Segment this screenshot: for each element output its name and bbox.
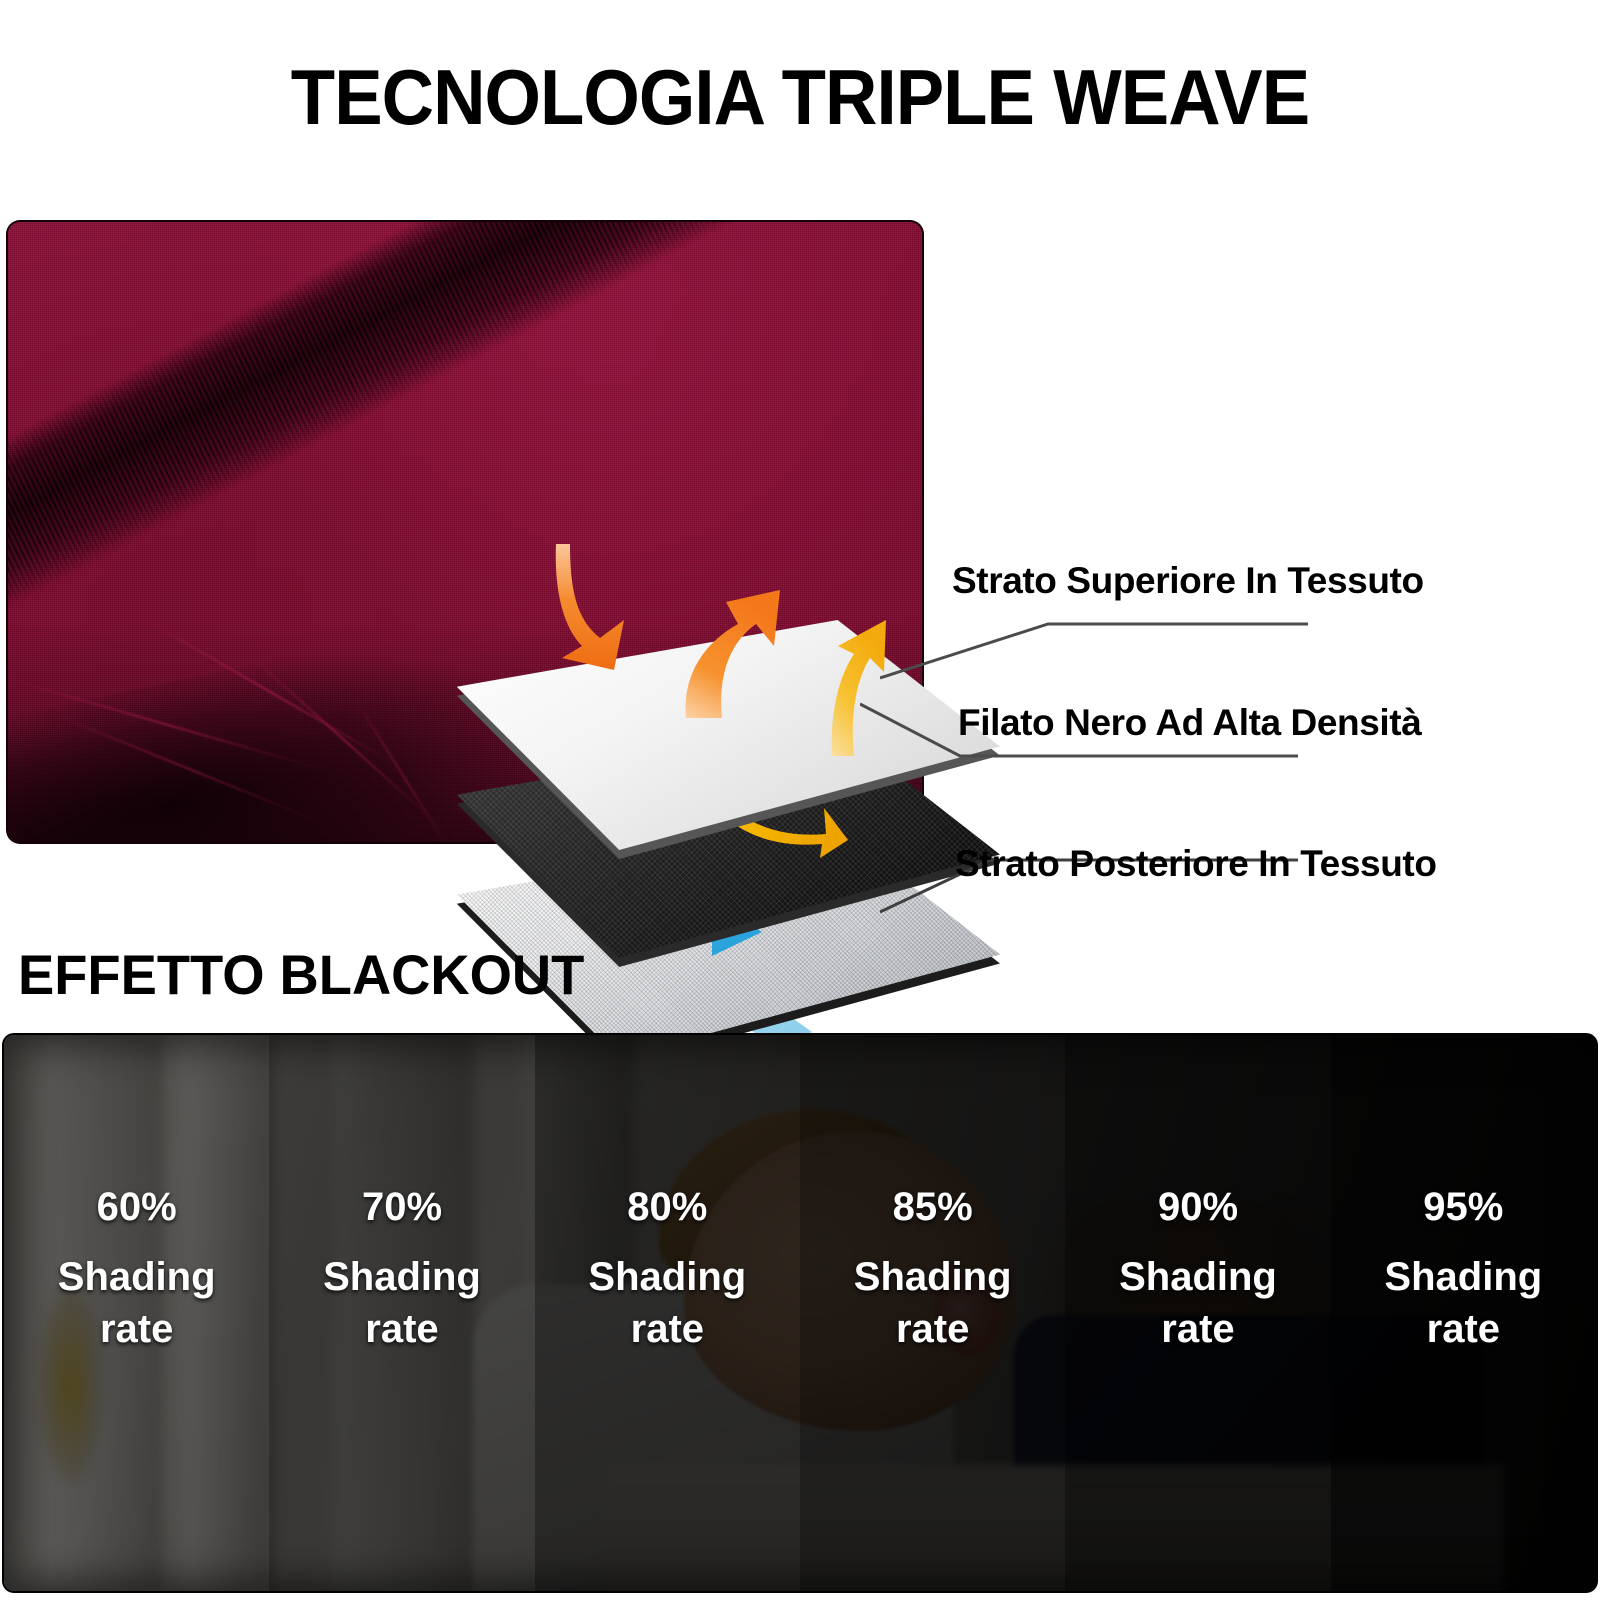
shading-panel-90: 90%Shadingrate: [1065, 1035, 1330, 1591]
blackout-section-heading: EFFETTO BLACKOUT: [18, 942, 584, 1007]
blackout-comparison-strip: 60%Shadingrate70%Shadingrate80%Shadingra…: [4, 1035, 1596, 1591]
shading-panel-70: 70%Shadingrate: [269, 1035, 534, 1591]
shading-panel-95: 95%Shadingrate: [1331, 1035, 1596, 1591]
shading-label-line1: Shading: [58, 1257, 216, 1297]
shading-percent-value: 70%: [362, 1187, 442, 1227]
shading-label-line2: rate: [1427, 1309, 1500, 1349]
page-title: TECNOLOGIA TRIPLE WEAVE: [56, 52, 1544, 143]
shading-panel-60: 60%Shadingrate: [4, 1035, 269, 1591]
shading-percent-value: 85%: [893, 1187, 973, 1227]
shading-percent-value: 90%: [1158, 1187, 1238, 1227]
shading-label-line2: rate: [100, 1309, 173, 1349]
light-in-orange-arrow-icon: [548, 542, 668, 692]
shading-panel-80: 80%Shadingrate: [535, 1035, 800, 1591]
shading-label-line2: rate: [365, 1309, 438, 1349]
shading-label-line1: Shading: [1119, 1257, 1277, 1297]
shading-label-line2: rate: [631, 1309, 704, 1349]
shading-label-line1: Shading: [854, 1257, 1012, 1297]
shading-panel-85: 85%Shadingrate: [800, 1035, 1065, 1591]
shading-percent-value: 60%: [97, 1187, 177, 1227]
label-strato-posteriore: Strato Posteriore In Tessuto: [955, 843, 1437, 885]
light-reflect-orange-arrow-icon: [676, 562, 806, 722]
label-strato-superiore: Strato Superiore In Tessuto: [952, 560, 1424, 602]
shading-label-line1: Shading: [323, 1257, 481, 1297]
shading-percent-value: 80%: [627, 1187, 707, 1227]
shading-label-line2: rate: [1161, 1309, 1234, 1349]
label-filato-nero: Filato Nero Ad Alta Densità: [958, 702, 1421, 744]
shading-label-line2: rate: [896, 1309, 969, 1349]
shading-percent-value: 95%: [1423, 1187, 1503, 1227]
leader-line-top-layer: [880, 600, 1310, 680]
shading-label-line1: Shading: [1384, 1257, 1542, 1297]
shading-label-line1: Shading: [588, 1257, 746, 1297]
